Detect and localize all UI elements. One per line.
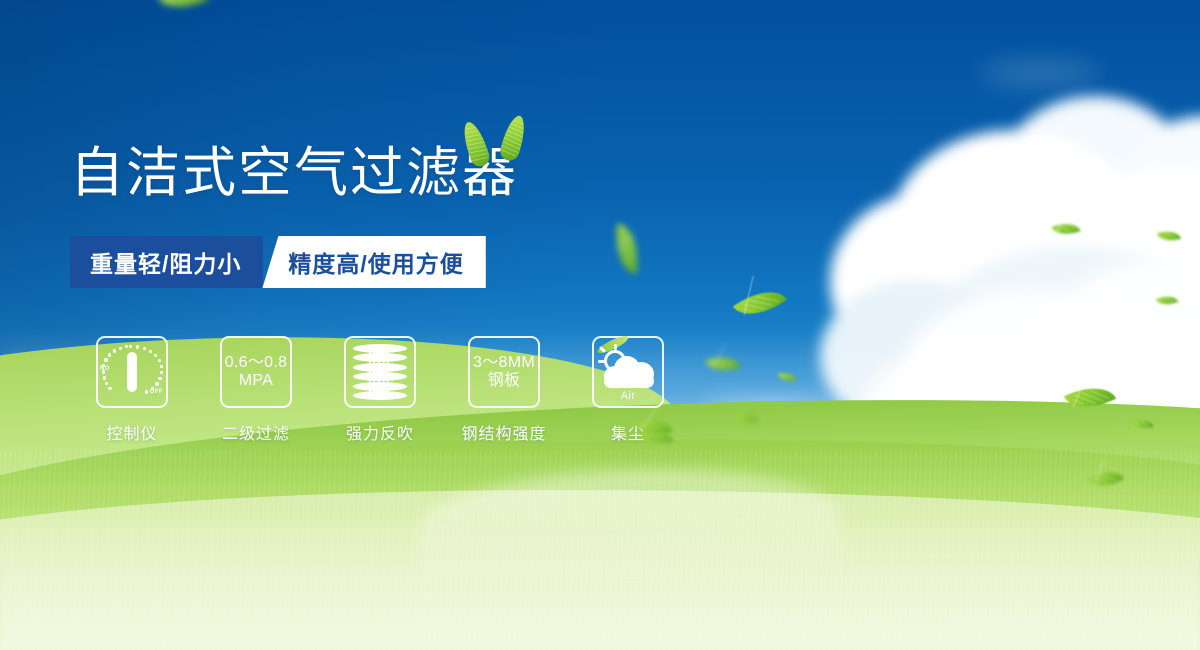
subtitle-left: 重量轻/阻力小 <box>70 236 263 288</box>
grass-highlight <box>0 510 1200 650</box>
feature-item-steel-strength[interactable]: 3～8MM 钢板 钢结构强度 <box>442 336 566 444</box>
feature-label: 控制仪 <box>106 420 157 444</box>
pressure-unit: MPA <box>225 372 288 390</box>
gauge-dial-icon: NO OFF <box>101 343 163 401</box>
product-banner: 自洁式空气过滤器 重量轻/阻力小 精度高/使用方便 <box>0 0 1200 650</box>
pressure-value: 0.6～0.8 <box>225 354 288 372</box>
feature-label: 钢结构强度 <box>461 420 546 444</box>
filter-stack-icon <box>353 344 407 400</box>
gauge-label-no: NO <box>100 366 110 372</box>
sprout-leaves-icon <box>464 113 534 169</box>
steel-thickness: 3～8MM <box>473 354 535 372</box>
feature-item-control-instrument[interactable]: NO OFF 控制仪 <box>70 336 194 444</box>
subtitle-right: 精度高/使用方便 <box>262 236 485 288</box>
feature-item-two-stage-filter[interactable]: 0.6～0.8 MPA 二级过滤 <box>194 336 318 444</box>
feature-icon-box <box>344 336 416 408</box>
feature-icon-box: NO OFF <box>96 336 168 408</box>
feature-icon-box: Air <box>592 336 664 408</box>
page-title: 自洁式空气过滤器 <box>70 146 518 200</box>
feature-icon-box: 3～8MM 钢板 <box>468 336 540 408</box>
gauge-needle <box>127 352 137 392</box>
gauge-label-off: OFF <box>150 389 163 395</box>
subtitle-bar: 重量轻/阻力小 精度高/使用方便 <box>70 236 486 288</box>
wispy-cloud <box>980 60 1100 86</box>
feature-label: 二级过滤 <box>222 420 290 444</box>
steel-material: 钢板 <box>473 372 535 390</box>
pressure-text-icon: 0.6～0.8 MPA <box>225 354 288 390</box>
steel-plate-text-icon: 3～8MM 钢板 <box>473 354 535 390</box>
cloud-air-icon: Air <box>598 344 658 400</box>
feature-icon-box: 0.6～0.8 MPA <box>220 336 292 408</box>
feature-item-strong-blowback[interactable]: 强力反吹 <box>318 336 442 444</box>
feature-list: NO OFF 控制仪 0.6～0.8 MPA 二级过滤 <box>70 336 690 444</box>
feature-label: 强力反吹 <box>346 420 414 444</box>
air-label: Air <box>598 390 658 402</box>
